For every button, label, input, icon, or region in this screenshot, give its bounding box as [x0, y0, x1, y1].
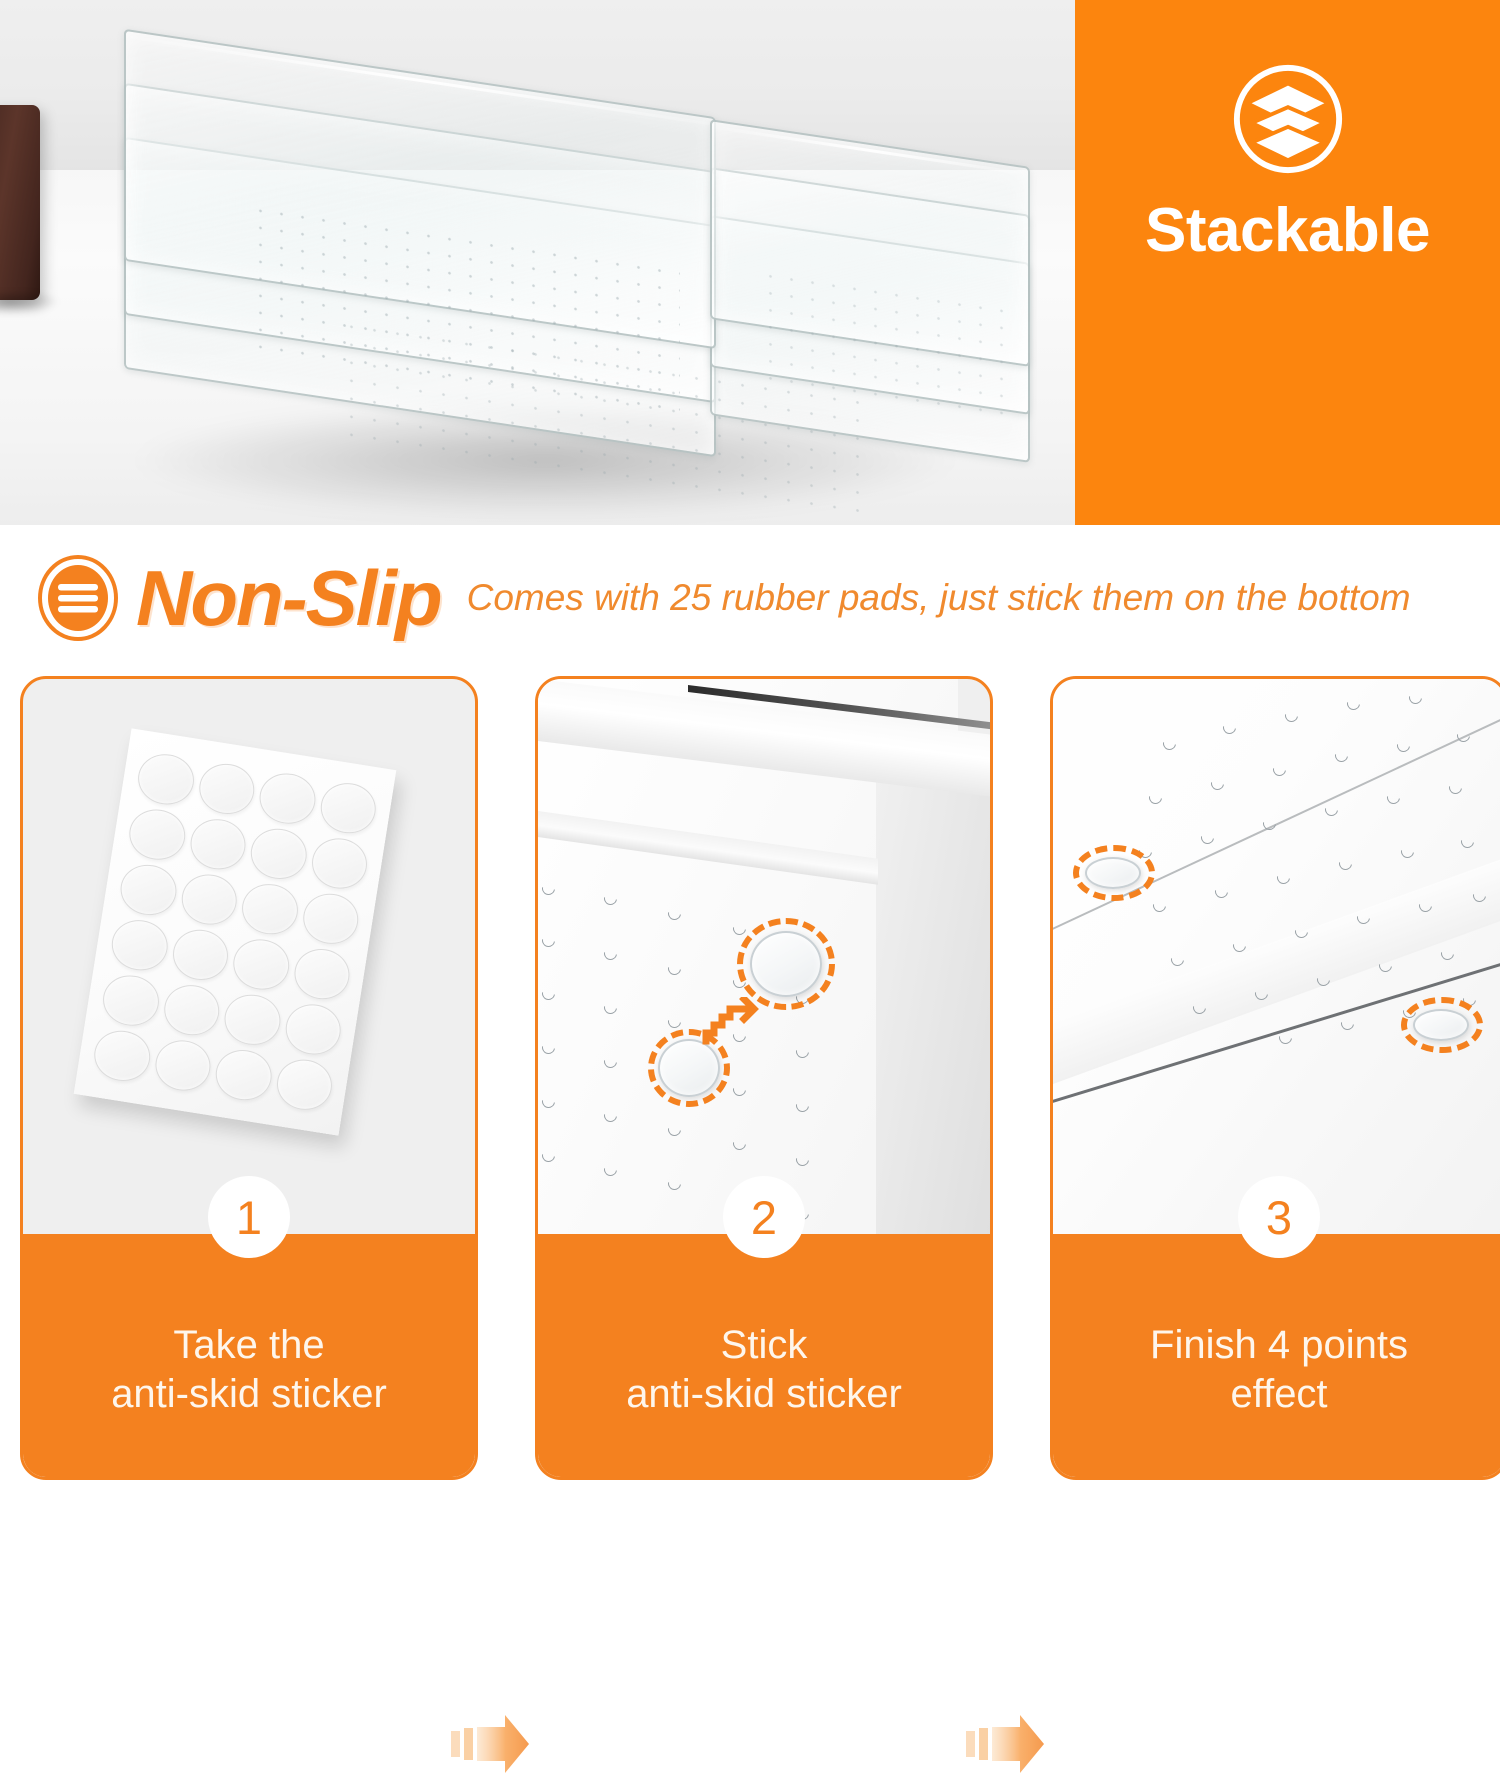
- sticker-pad: [299, 890, 362, 948]
- step-1-image: [23, 679, 475, 1249]
- sticker-pad: [290, 945, 353, 1003]
- sticker-pad: [282, 1000, 345, 1058]
- step-1-caption-box: 1 Take the anti-skid sticker: [23, 1234, 475, 1477]
- step-2-caption-box: 2 Stick anti-skid sticker: [538, 1234, 990, 1477]
- stackable-feature-panel: Stackable: [1075, 0, 1500, 525]
- step-1-caption-text: Take the anti-skid sticker: [111, 1321, 387, 1419]
- step-2-caption-text: Stick anti-skid sticker: [626, 1321, 902, 1419]
- sticker-pad: [247, 825, 310, 883]
- sticker-pad: [256, 770, 319, 828]
- dark-object-shadow: [0, 292, 60, 314]
- nonslip-header: Non-Slip Comes with 25 rubber pads, just…: [0, 525, 1500, 670]
- sticker-pad: [91, 1027, 154, 1085]
- layers-icon: [1229, 60, 1347, 178]
- sticker-pad: [151, 1036, 214, 1094]
- step-panel-2: 2 Stick anti-skid sticker: [535, 676, 993, 1480]
- step-3-image: [1053, 679, 1500, 1249]
- clear-tray-stack: [100, 55, 1060, 495]
- step-panel-1: 1 Take the anti-skid sticker: [20, 676, 478, 1480]
- nonslip-subtitle: Comes with 25 rubber pads, just stick th…: [467, 579, 1411, 616]
- sticker-pad: [134, 750, 197, 808]
- sticker-pad: [178, 871, 241, 929]
- step-3-badge: 3: [1238, 1176, 1320, 1258]
- anti-skid-sticker-sheet: [74, 728, 397, 1135]
- sticker-pad: [186, 815, 249, 873]
- sticker-pad: [160, 981, 223, 1039]
- hero-product-photo: [0, 0, 1075, 525]
- sticker-pad: [169, 926, 232, 984]
- steps-section: 1 Take the anti-skid sticker: [0, 676, 1500, 1482]
- top-band: Stackable: [0, 0, 1500, 525]
- sticker-pad: [117, 861, 180, 919]
- sticker-pad: [238, 880, 301, 938]
- sticker-pad: [126, 806, 189, 864]
- step-2-image: [538, 679, 990, 1249]
- step-1-badge: 1: [208, 1176, 290, 1258]
- pad-move-arrow: [700, 997, 760, 1060]
- sticker-pad: [195, 760, 258, 818]
- sticker-pad: [308, 834, 371, 892]
- finished-pad-ring-top-left: [1073, 845, 1155, 901]
- step-arrow-1-to-2: [449, 1711, 531, 1777]
- step-panel-3: 3 Finish 4 points effect: [1050, 676, 1500, 1480]
- nonslip-title: Non-Slip: [136, 559, 441, 637]
- sticker-pad: [273, 1056, 336, 1114]
- tray-dimple-field-3: [1053, 679, 1500, 1249]
- sticker-pad: [108, 916, 171, 974]
- sticker-pad: [221, 991, 284, 1049]
- sticker-pad: [317, 779, 380, 837]
- sticker-pad: [212, 1046, 275, 1104]
- dark-brown-object: [0, 105, 40, 300]
- step-2-badge: 2: [723, 1176, 805, 1258]
- step-3-caption-text: Finish 4 points effect: [1150, 1321, 1408, 1419]
- step-arrow-2-to-3: [964, 1711, 1046, 1777]
- hamburger-lines-circle-icon: [36, 554, 120, 642]
- sticker-pad: [99, 972, 162, 1030]
- finished-pad-ring-bottom-right: [1401, 997, 1483, 1053]
- step-3-caption-box: 3 Finish 4 points effect: [1053, 1234, 1500, 1477]
- stackable-title: Stackable: [1145, 200, 1430, 262]
- sticker-pad: [230, 935, 293, 993]
